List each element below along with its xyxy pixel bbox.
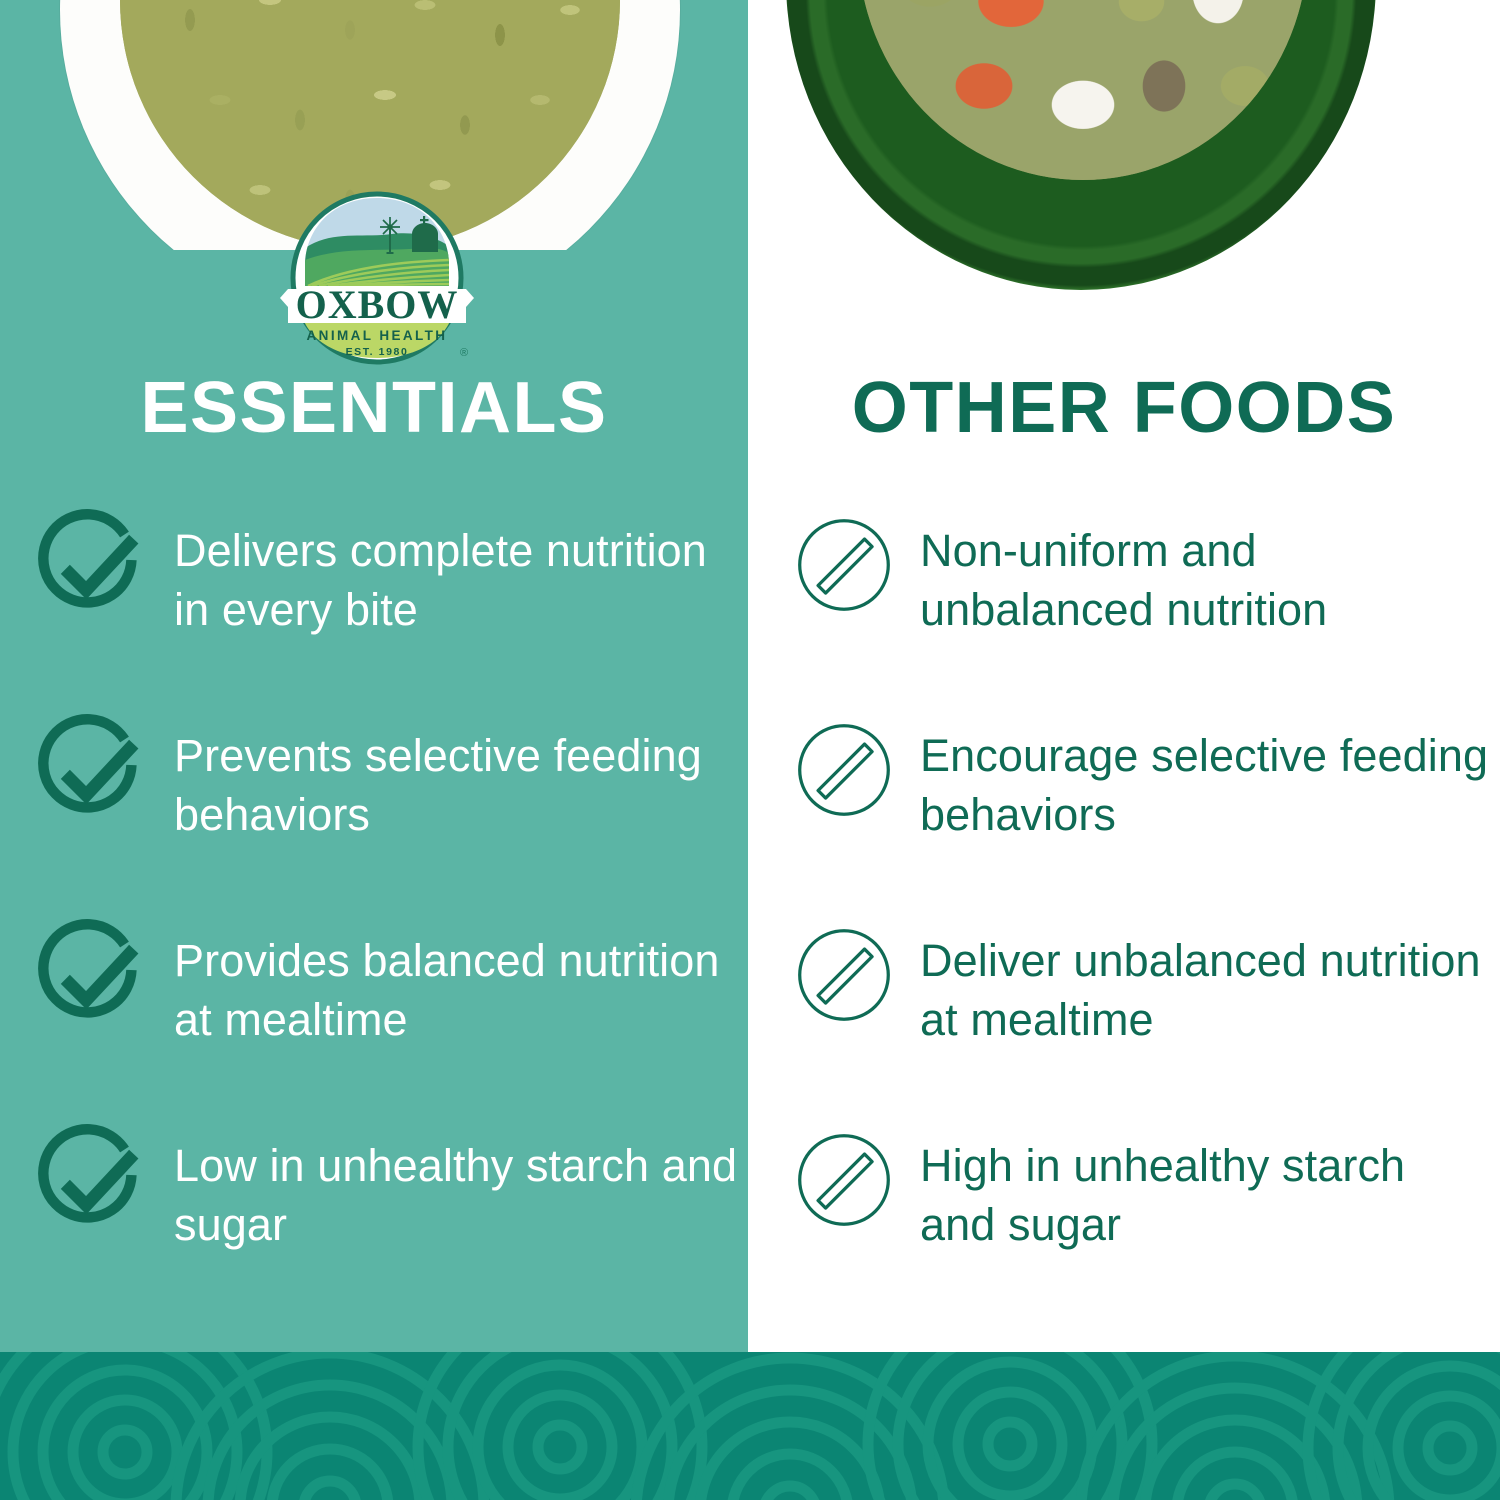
mixed-food-texture: [858, 0, 1308, 180]
logo-established: EST. 1980: [346, 346, 409, 358]
list-item-label: Prevents selective feeding behaviors: [174, 710, 748, 845]
essentials-heading: ESSENTIALS: [0, 372, 748, 444]
list-item-label: Deliver unbalanced nutrition at mealtime: [920, 915, 1490, 1050]
list-item-label: High in unhealthy starch and sugar: [920, 1120, 1490, 1255]
list-item-label: Encourage selective feeding behaviors: [920, 710, 1490, 845]
list-item-label: Provides balanced nutrition at mealtime: [174, 915, 748, 1050]
list-item: Deliver unbalanced nutrition at mealtime: [790, 915, 1490, 1120]
check-circle-icon: [34, 1124, 150, 1240]
no-entry-slash-icon: [790, 716, 898, 824]
logo-wordmark: OXBOW: [296, 282, 459, 327]
logo-registered-mark: ®: [460, 347, 468, 359]
comparison-infographic: OXBOW ANIMAL HEALTH EST. 1980 ® ESSENTIA…: [0, 0, 1500, 1500]
other-foods-heading: OTHER FOODS: [748, 372, 1500, 444]
list-item: Provides balanced nutrition at mealtime: [34, 915, 748, 1120]
bowl-contents-mixed-food: [858, 0, 1308, 180]
no-entry-slash-icon: [790, 1126, 898, 1234]
check-circle-icon: [34, 714, 150, 830]
no-entry-slash-icon: [790, 921, 898, 1029]
check-circle-icon: [34, 509, 150, 625]
list-item-label: Non-uniform and unbalanced nutrition: [920, 505, 1490, 640]
logo-tagline: ANIMAL HEALTH: [307, 328, 448, 343]
list-item-label: Low in unhealthy starch and sugar: [174, 1120, 748, 1255]
list-item: Encourage selective feeding behaviors: [790, 710, 1490, 915]
check-circle-icon: [34, 919, 150, 1035]
no-entry-slash-icon: [790, 511, 898, 619]
list-item-label: Delivers complete nutrition in every bit…: [174, 505, 748, 640]
list-item: Low in unhealthy starch and sugar: [34, 1120, 748, 1325]
essentials-list: Delivers complete nutrition in every bit…: [34, 505, 748, 1325]
list-item: Non-uniform and unbalanced nutrition: [790, 505, 1490, 710]
decorative-rings-band: [0, 1352, 1500, 1500]
list-item: Prevents selective feeding behaviors: [34, 710, 748, 915]
list-item: High in unhealthy starch and sugar: [790, 1120, 1490, 1325]
photo-green-bowl-of-mixed-colorful-food: [748, 0, 1500, 290]
list-item: Delivers complete nutrition in every bit…: [34, 505, 748, 710]
other-foods-list: Non-uniform and unbalanced nutrition Enc…: [790, 505, 1490, 1325]
oxbow-logo: OXBOW ANIMAL HEALTH EST. 1980 ®: [272, 190, 482, 365]
